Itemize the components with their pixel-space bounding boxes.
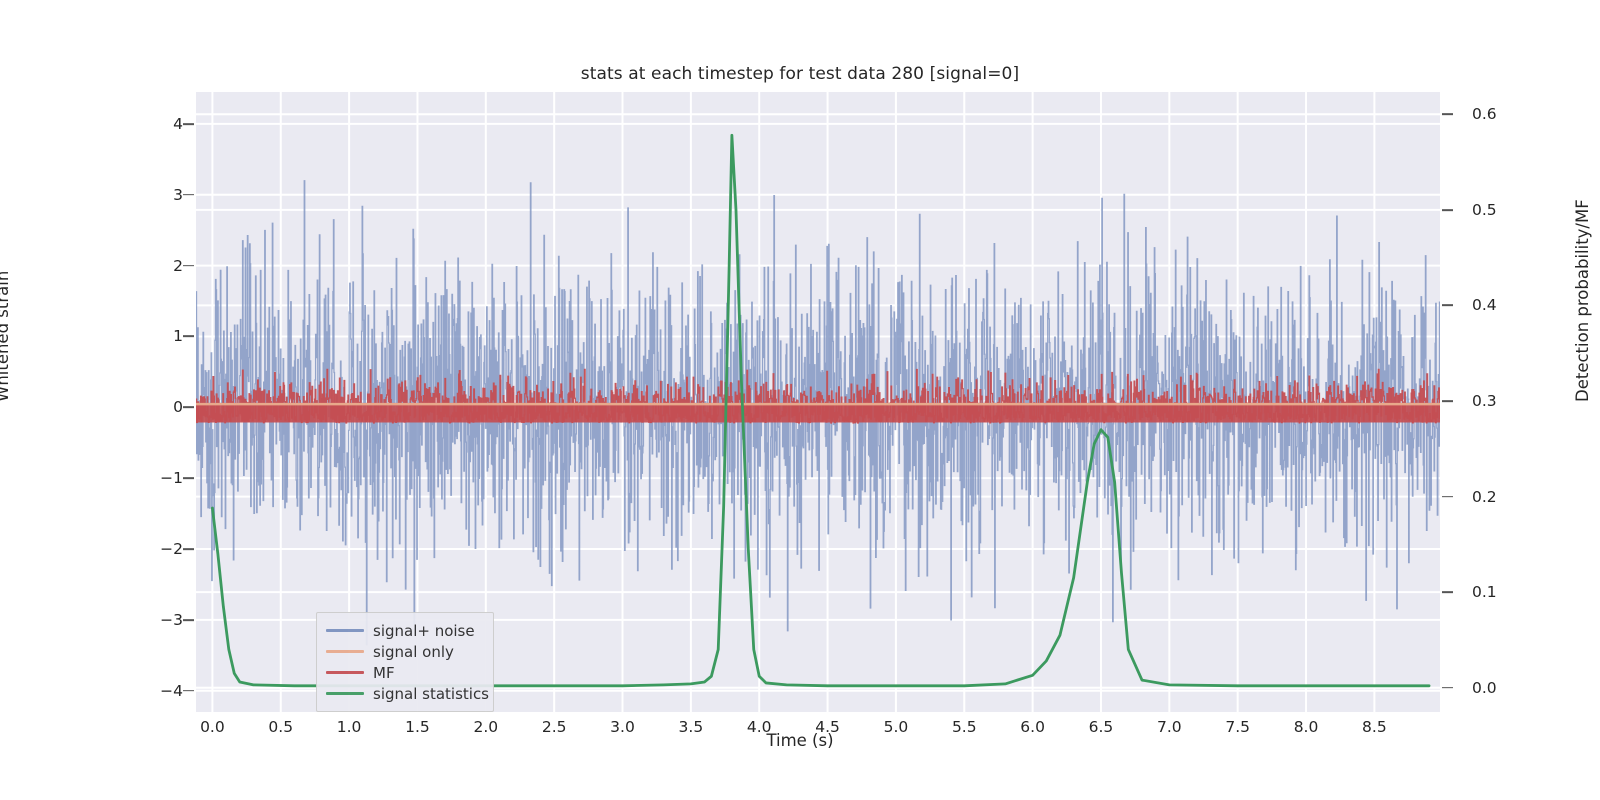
y-tick-label-left: −1 [160, 469, 183, 487]
y-tick-label-left: 0 [173, 398, 183, 416]
y-tick-label-right: 0.0 [1472, 679, 1497, 697]
x-tick-label: 6.5 [1089, 718, 1114, 736]
y-tick-mark-right [1442, 209, 1453, 211]
y-tick-label-right: 0.6 [1472, 105, 1497, 123]
x-tick-label: 0.5 [268, 718, 293, 736]
legend[interactable]: signal+ noisesignal onlyMFsignal statist… [316, 612, 494, 712]
matplotlib-figure: stats at each timestep for test data 280… [0, 0, 1600, 800]
y-tick-mark-left [183, 265, 194, 267]
legend-item-signal-only[interactable]: signal only [323, 641, 485, 662]
x-tick-label: 8.5 [1362, 718, 1387, 736]
page-title: stats at each timestep for test data 280… [0, 64, 1600, 84]
y-tick-label-left: −2 [160, 540, 183, 558]
x-tick-label: 8.0 [1294, 718, 1319, 736]
legend-item-mf[interactable]: MF [323, 662, 485, 683]
y-tick-label-left: 2 [173, 257, 183, 275]
y-tick-mark-left [183, 548, 194, 550]
x-tick-label: 6.0 [1020, 718, 1045, 736]
legend-swatch-icon [326, 650, 364, 652]
y-tick-mark-left [183, 406, 194, 408]
y-tick-label-left: 3 [173, 186, 183, 204]
y-tick-label-right: 0.3 [1472, 392, 1497, 410]
y-tick-mark-right [1442, 687, 1453, 689]
legend-item-label: signal statistics [373, 685, 489, 703]
y-tick-mark-left [183, 194, 194, 196]
legend-swatch-icon [326, 692, 364, 694]
x-tick-label: 4.0 [747, 718, 772, 736]
x-tick-label: 2.5 [542, 718, 567, 736]
y-tick-label-left: 1 [173, 327, 183, 345]
y-tick-mark-left [183, 619, 194, 621]
legend-item-label: signal+ noise [373, 622, 475, 640]
x-tick-label: 4.5 [815, 718, 840, 736]
legend-swatch-icon [326, 671, 364, 673]
x-tick-label: 0.0 [200, 718, 225, 736]
y-tick-label-right: 0.2 [1472, 488, 1497, 506]
y-tick-label-left: 4 [173, 115, 183, 133]
y-tick-mark-right [1442, 305, 1453, 307]
y-tick-mark-left [183, 690, 194, 692]
legend-item-signal-statistics[interactable]: signal statistics [323, 683, 485, 704]
legend-item-label: MF [373, 664, 395, 682]
y-tick-mark-left [183, 477, 194, 479]
x-tick-label: 3.5 [679, 718, 704, 736]
x-tick-label: 7.5 [1225, 718, 1250, 736]
y-tick-label-right: 0.4 [1472, 296, 1497, 314]
y-tick-mark-right [1442, 400, 1453, 402]
y-tick-mark-right [1442, 496, 1453, 498]
y-tick-mark-left [183, 336, 194, 338]
x-tick-label: 2.0 [473, 718, 498, 736]
x-tick-label: 5.0 [884, 718, 909, 736]
x-tick-label: 3.0 [610, 718, 635, 736]
y-tick-mark-left [183, 123, 194, 125]
x-tick-label: 7.0 [1157, 718, 1182, 736]
y-tick-label-right: 0.1 [1472, 583, 1497, 601]
x-axis-label: Time (s) [0, 731, 1600, 750]
y-tick-mark-right [1442, 113, 1453, 115]
legend-swatch-icon [326, 629, 364, 631]
y-tick-mark-right [1442, 591, 1453, 593]
y-tick-label-left: −3 [160, 611, 183, 629]
x-tick-label: 1.5 [405, 718, 430, 736]
x-tick-label: 1.0 [337, 718, 362, 736]
legend-item-signal-noise[interactable]: signal+ noise [323, 620, 485, 641]
x-tick-label: 5.5 [952, 718, 977, 736]
y-tick-label-left: −4 [160, 682, 183, 700]
legend-item-label: signal only [373, 643, 454, 661]
y-tick-label-right: 0.5 [1472, 201, 1497, 219]
